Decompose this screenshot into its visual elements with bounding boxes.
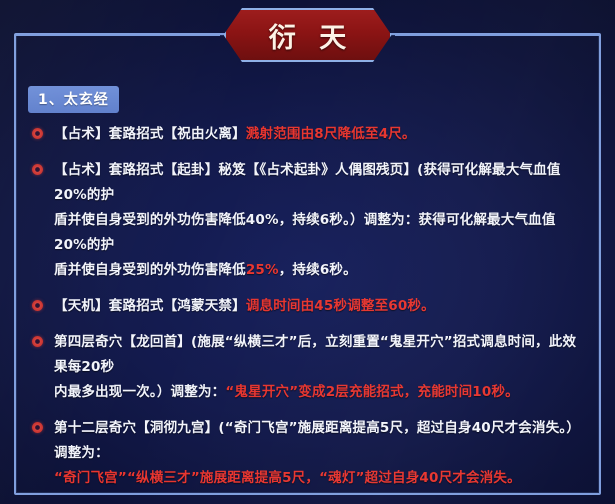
section-tag-taixuanjing: 1、太玄经 [28, 86, 119, 113]
list-item: 【天机】套路招式【鸿蒙天禁】调息时间由45秒调整至60秒。 [30, 294, 586, 319]
list-item-line: 盾并使自身受到的外功伤害降低25%，持续6秒。 [54, 258, 586, 283]
bullet-icon [32, 336, 43, 347]
banner-wing-left [16, 34, 220, 36]
body-text: 【占术】套路招式【起卦】秘笈【《占术起卦》人偶图残页】(获得可化解最大气血值20… [54, 162, 561, 203]
list-item-line: 盾并使自身受到的外功伤害降低40%，持续6秒。）调整为：获得可化解最大气血值20… [54, 208, 586, 258]
highlight-text: “鬼星开穴”变成2层充能招式，充能时间10秒。 [225, 384, 519, 400]
highlight-text: 25% [246, 262, 279, 278]
highlight-text: 调息时间由45秒调整至60秒。 [246, 298, 435, 314]
list-item-line: 【占术】套路招式【起卦】秘笈【《占术起卦》人偶图残页】(获得可化解最大气血值20… [54, 158, 586, 208]
list-item: 【占术】套路招式【起卦】秘笈【《占术起卦》人偶图残页】(获得可化解最大气血值20… [30, 158, 586, 283]
body-text: 盾并使自身受到的外功伤害降低 [54, 262, 246, 278]
list-item: 第四层奇穴【龙回首】(施展“纵横三才”后，立刻重置“鬼星开穴”招式调息时间，此效… [30, 330, 586, 405]
list-item-line: 第四层奇穴【龙回首】(施展“纵横三才”后，立刻重置“鬼星开穴”招式调息时间，此效… [54, 330, 586, 380]
list-item-line: 【占术】套路招式【祝由火离】溅射范围由8尺降低至4尺。 [54, 122, 586, 147]
highlight-text: “奇门飞宫”“纵横三才”施展距离提高5尺，“魂灯”超过自身40尺才会消失。 [54, 470, 521, 486]
body-text: 【占术】套路招式【祝由火离】 [54, 126, 246, 142]
list-item-line: “奇门飞宫”“纵横三才”施展距离提高5尺，“魂灯”超过自身40尺才会消失。 [54, 466, 586, 491]
title-banner: 衍 天 [224, 8, 392, 62]
list-item: 第十二层奇穴【洞彻九宫】(“奇门飞宫”施展距离提高5尺，超过自身40尺才会消失。… [30, 416, 586, 491]
highlight-text: 溅射范围由8尺降低至4尺。 [246, 126, 416, 142]
body-text: 盾并使自身受到的外功伤害降低40%，持续6秒。）调整为：获得可化解最大气血值20… [54, 212, 556, 253]
list-item-line: 第十二层奇穴【洞彻九宫】(“奇门飞宫”施展距离提高5尺，超过自身40尺才会消失。… [54, 416, 586, 466]
bullet-icon [32, 128, 43, 139]
page-title: 衍 天 [262, 16, 353, 55]
title-banner-inner: 衍 天 [226, 10, 390, 60]
banner-wing-right [395, 34, 599, 36]
body-text: 第十二层奇穴【洞彻九宫】(“奇门飞宫”施展距离提高5尺，超过自身40尺才会消失。… [54, 420, 580, 461]
patch-notes-page: 衍 天 1、太玄经 【占术】套路招式【祝由火离】溅射范围由8尺降低至4尺。【占术… [0, 0, 615, 504]
list-item-line: 内最多出现一次。）调整为：“鬼星开穴”变成2层充能招式，充能时间10秒。 [54, 380, 586, 405]
list-item: 【占术】套路招式【祝由火离】溅射范围由8尺降低至4尺。 [30, 122, 586, 147]
bullet-icon [32, 164, 43, 175]
bullet-icon [32, 422, 43, 433]
body-text: 第四层奇穴【龙回首】(施展“纵横三才”后，立刻重置“鬼星开穴”招式调息时间，此效… [54, 334, 576, 375]
body-text: 【天机】套路招式【鸿蒙天禁】 [54, 298, 246, 314]
bullet-icon [32, 300, 43, 311]
body-text: 内最多出现一次。）调整为： [54, 384, 225, 400]
list-item-line: 【天机】套路招式【鸿蒙天禁】调息时间由45秒调整至60秒。 [54, 294, 586, 319]
patch-note-list: 【占术】套路招式【祝由火离】溅射范围由8尺降低至4尺。【占术】套路招式【起卦】秘… [30, 122, 586, 504]
body-text: ，持续6秒。 [279, 262, 357, 278]
